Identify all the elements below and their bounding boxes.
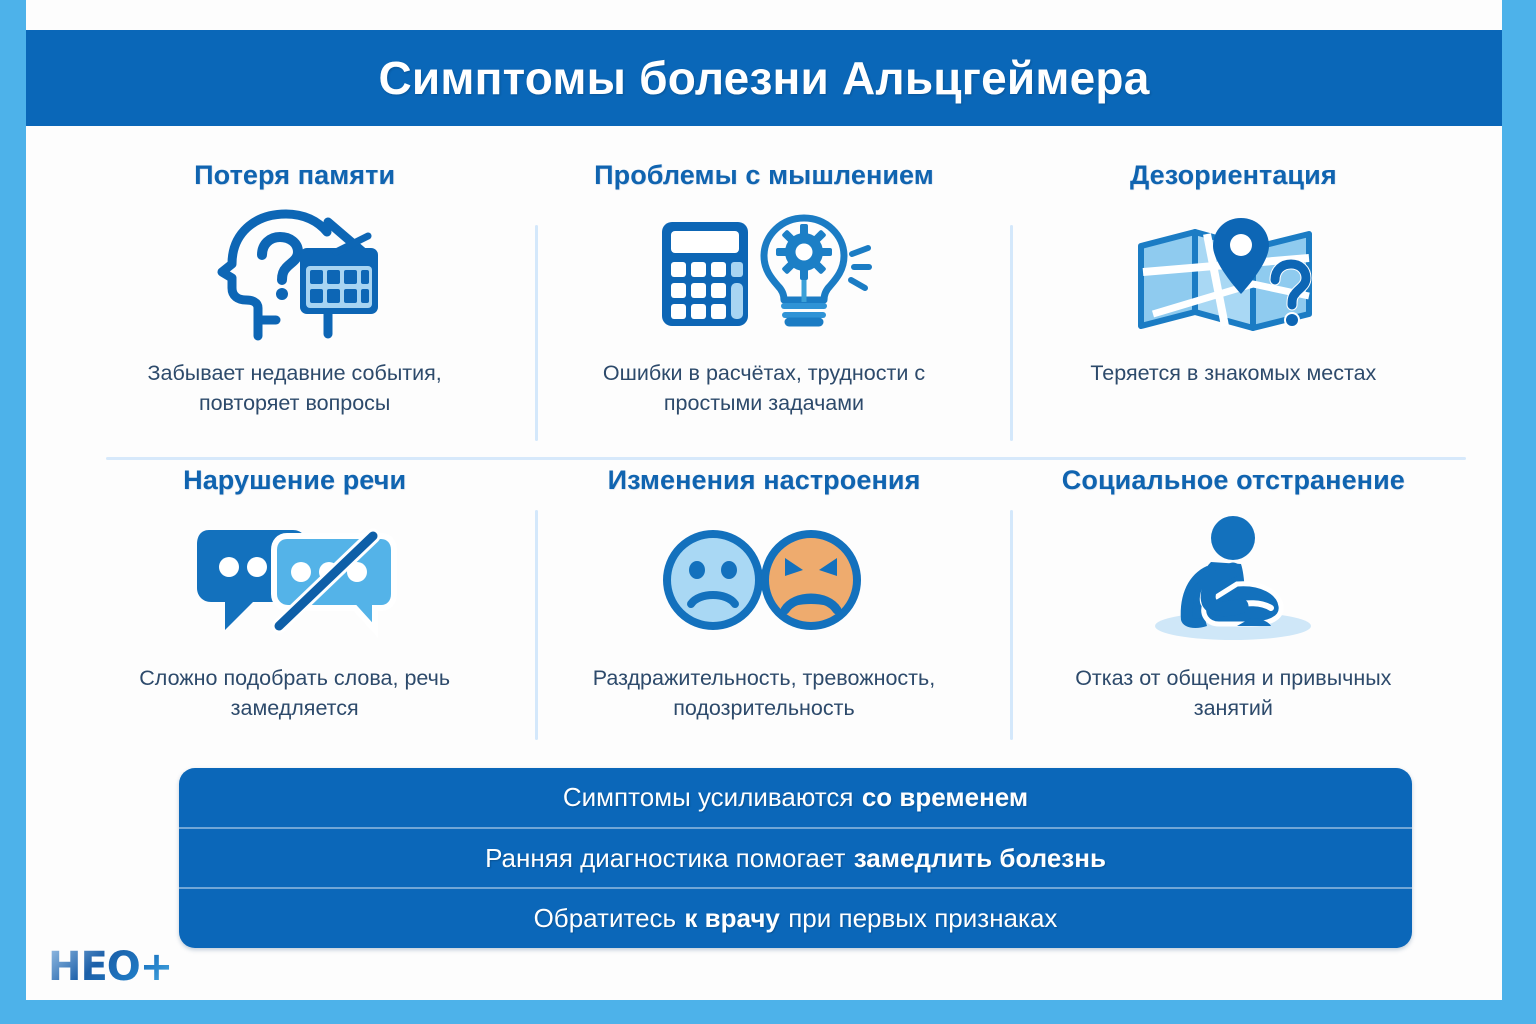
symptom-card-description: Теряется в знакомых местах [1090,359,1376,389]
sad-angry-faces-icon [661,510,866,650]
takeaway-text-bold: со временем [862,782,1028,813]
symptom-card-mood-changes: Изменения настроения [529,451,998,756]
takeaway-text-bold: к врачу [684,903,779,934]
grid-divider-vertical [535,510,538,740]
symptom-card-description: Сложно подобрать слова, речь замедляется [95,664,495,723]
symptom-card-disorientation: Дезориентация [999,146,1468,451]
symptom-card-description: Раздражительность, тревожность, подозрит… [564,664,964,723]
symptom-card-title: Проблемы с мышлением [594,160,934,191]
takeaway-text-plain: Симптомы усиливаются [563,782,854,813]
symptom-card-description: Отказ от общения и привычных занятий [1033,664,1433,723]
symptom-card-description: Ошибки в расчётах, трудности с простыми … [564,359,964,418]
person-sitting-alone-icon [1133,510,1333,650]
takeaway-line: Обратитесь к врачу при первых признаках [179,887,1412,948]
brand-logo: НЕО+ [48,944,172,990]
symptom-card-memory-loss: Потеря памяти [60,146,529,451]
poster-root: Симптомы болезни Альцгеймера Потеря памя… [0,0,1536,1024]
grid-divider-vertical [535,225,538,441]
symptom-card-thinking-problems: Проблемы с мышлением [529,146,998,451]
page-title: Симптомы болезни Альцгеймера [378,51,1149,105]
calculator-lightbulb-gear-icon [656,205,871,345]
takeaway-text-bold: замедлить болезнь [854,843,1106,874]
symptom-card-social-withdrawal: Социальное отстранение [999,451,1468,756]
symptom-card-description: Забывает недавние события, повторяет воп… [95,359,495,418]
map-pin-question-icon [1133,205,1333,345]
head-question-calendar-icon [200,205,390,345]
takeaway-line: Ранняя диагностика помогает замедлить бо… [179,827,1412,888]
takeaway-text-plain: Ранняя диагностика помогает [485,843,845,874]
symptom-grid: Потеря памяти [60,146,1468,756]
grid-divider-vertical [1010,510,1013,740]
speech-bubbles-slash-icon [195,510,395,650]
key-takeaways-box: Симптомы усиливаются со временем Ранняя … [179,768,1412,948]
poster-header: Симптомы болезни Альцгеймера [26,30,1502,126]
symptom-card-title: Нарушение речи [183,465,406,496]
symptom-card-speech-impairment: Нарушение речи [60,451,529,756]
grid-divider-horizontal [106,457,1466,460]
symptom-card-title: Дезориентация [1130,160,1337,191]
takeaway-text-plain-after: при первых признаках [788,903,1057,934]
takeaway-text-plain: Обратитесь [534,903,677,934]
symptom-card-title: Изменения настроения [608,465,921,496]
takeaway-line: Симптомы усиливаются со временем [179,768,1412,827]
poster-sheet: Симптомы болезни Альцгеймера Потеря памя… [26,0,1502,1000]
symptom-card-title: Социальное отстранение [1062,465,1405,496]
grid-divider-vertical [1010,225,1013,441]
symptom-card-title: Потеря памяти [194,160,395,191]
